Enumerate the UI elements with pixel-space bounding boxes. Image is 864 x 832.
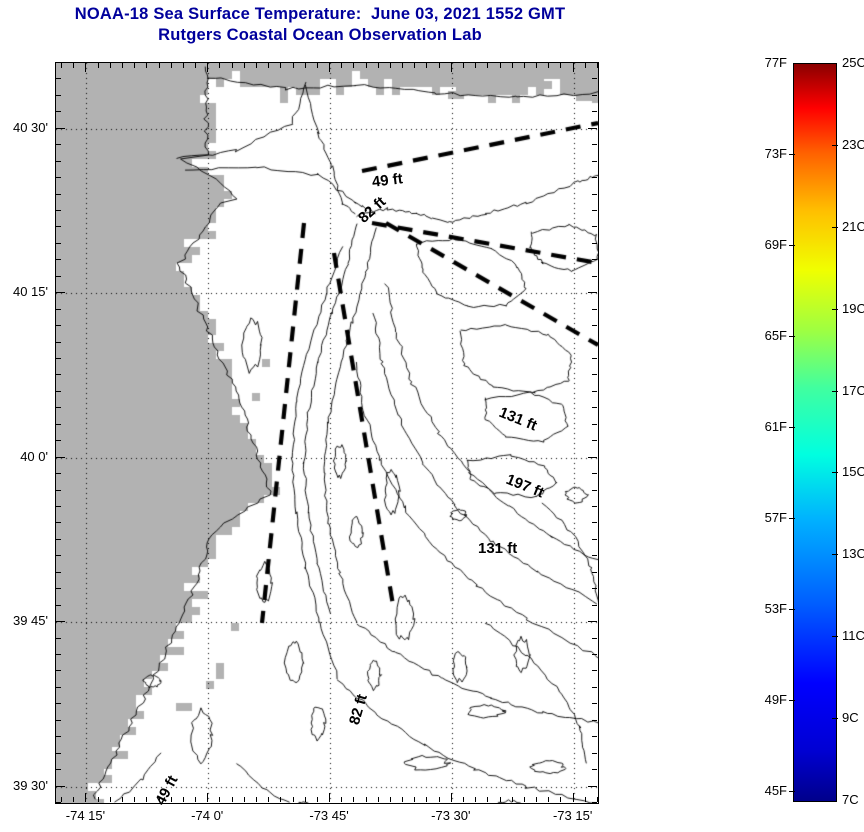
lon-tick-bottom [244, 797, 245, 802]
lon-tick-top [439, 63, 440, 68]
temperature-colorbar [793, 63, 837, 802]
lat-tick-left [56, 654, 61, 655]
lon-tick-bottom [85, 793, 86, 802]
lon-axis-label: -73 30' [406, 808, 496, 823]
lat-tick-left [56, 407, 61, 408]
lat-tick-right [592, 687, 597, 688]
depth-contour-label: 131 ft [478, 540, 517, 557]
lat-tick-right [592, 194, 597, 195]
lat-tick-right [592, 440, 597, 441]
lon-tick-bottom [597, 797, 598, 802]
lat-tick-right [592, 605, 597, 606]
lon-tick-top [122, 63, 123, 68]
colorbar-label-celsius: 11C [842, 628, 864, 643]
page-title: NOAA-18 Sea Surface Temperature: June 03… [0, 4, 640, 25]
lat-tick-left [56, 391, 61, 392]
colorbar-tick [789, 700, 795, 701]
colorbar-tick [789, 791, 795, 792]
lon-tick-top [61, 63, 62, 68]
lat-tick-right [592, 588, 597, 589]
colorbar-tick [789, 245, 795, 246]
lat-tick-right [592, 638, 597, 639]
lon-tick-top [390, 63, 391, 68]
lat-tick-left [56, 177, 61, 178]
lon-tick-bottom [475, 797, 476, 802]
lat-tick-right [592, 802, 597, 803]
lon-tick-bottom [232, 797, 233, 802]
lon-tick-bottom [73, 797, 74, 802]
lon-tick-bottom [110, 797, 111, 802]
lat-tick-left [56, 95, 61, 96]
lat-tick-left [56, 703, 61, 704]
lon-tick-top [451, 63, 452, 72]
lat-tick-right [592, 177, 597, 178]
colorbar-label-fahrenheit: 53F [735, 601, 787, 616]
lon-tick-top [560, 63, 561, 68]
lon-tick-bottom [536, 797, 537, 802]
lon-tick-top [402, 63, 403, 68]
lon-tick-top [195, 63, 196, 68]
lat-tick-right [592, 753, 597, 754]
lat-tick-left [56, 111, 61, 112]
lon-tick-top [219, 63, 220, 68]
colorbar-label-fahrenheit: 77F [735, 55, 787, 70]
lat-tick-right [592, 473, 597, 474]
lon-tick-bottom [293, 797, 294, 802]
lon-axis-label: -74 0' [162, 808, 252, 823]
lat-tick-left [56, 769, 61, 770]
colorbar-label-fahrenheit: 73F [735, 146, 787, 161]
lon-tick-top [293, 63, 294, 68]
colorbar-tick [789, 609, 795, 610]
colorbar-label-celsius: 17C [842, 383, 864, 398]
lat-axis-label: 40 30' [0, 120, 48, 135]
sst-map-plot-area [55, 62, 599, 804]
lon-tick-top [98, 63, 99, 68]
lon-tick-top [487, 63, 488, 68]
lon-tick-top [378, 63, 379, 68]
lat-tick-right [592, 374, 597, 375]
lon-tick-top [317, 63, 318, 68]
lat-tick-right [592, 736, 597, 737]
lat-tick-left [56, 358, 61, 359]
lon-tick-bottom [378, 797, 379, 802]
lon-tick-bottom [317, 797, 318, 802]
colorbar-tick [832, 636, 838, 637]
lon-tick-bottom [573, 793, 574, 802]
lat-tick-left [56, 62, 61, 63]
lon-tick-top [134, 63, 135, 68]
lon-tick-bottom [134, 797, 135, 802]
colorbar-tick [832, 391, 838, 392]
lon-tick-bottom [280, 797, 281, 802]
lat-tick-left [56, 490, 61, 491]
colorbar-tick [832, 145, 838, 146]
lat-tick-left [56, 440, 61, 441]
colorbar-tick [832, 227, 838, 228]
colorbar-tick [789, 427, 795, 428]
lon-tick-top [548, 63, 549, 68]
lat-tick-left [56, 374, 61, 375]
lat-tick-right [592, 555, 597, 556]
lon-tick-bottom [512, 797, 513, 802]
page-subtitle: Rutgers Coastal Ocean Observation Lab [0, 25, 640, 46]
colorbar-label-fahrenheit: 57F [735, 510, 787, 525]
lon-tick-bottom [61, 797, 62, 802]
lat-tick-right [592, 407, 597, 408]
lat-tick-left [56, 687, 61, 688]
lat-tick-left [56, 243, 61, 244]
colorbar-label-fahrenheit: 61F [735, 419, 787, 434]
lon-tick-bottom [390, 797, 391, 802]
lat-tick-right [592, 769, 597, 770]
lon-tick-top [73, 63, 74, 68]
lon-tick-top [536, 63, 537, 68]
lat-tick-left [56, 786, 65, 787]
lon-tick-bottom [146, 797, 147, 802]
lat-tick-right [592, 391, 597, 392]
lat-tick-right [592, 276, 597, 277]
lat-tick-right [592, 572, 597, 573]
lon-tick-bottom [122, 797, 123, 802]
colorbar-label-celsius: 19C [842, 301, 864, 316]
lon-tick-bottom [487, 797, 488, 802]
lon-tick-top [280, 63, 281, 68]
lon-tick-bottom [305, 797, 306, 802]
lat-tick-right [592, 703, 597, 704]
lat-tick-right [592, 111, 597, 112]
lon-tick-top [171, 63, 172, 68]
lat-tick-left [56, 720, 61, 721]
lat-tick-left [56, 78, 61, 79]
colorbar-gradient [793, 63, 837, 802]
lat-tick-left [56, 276, 61, 277]
colorbar-label-celsius: 7C [842, 792, 864, 807]
lon-tick-top [159, 63, 160, 68]
lat-tick-right [592, 720, 597, 721]
lat-tick-left [56, 342, 61, 343]
lat-tick-left [56, 292, 65, 293]
lat-tick-left [56, 522, 61, 523]
lon-tick-bottom [585, 797, 586, 802]
lon-tick-top [573, 63, 574, 72]
lon-tick-bottom [329, 793, 330, 802]
lat-tick-left [56, 802, 61, 803]
lat-tick-left [56, 588, 61, 589]
chart-title-block: NOAA-18 Sea Surface Temperature: June 03… [0, 4, 640, 46]
lon-tick-bottom [98, 797, 99, 802]
lat-tick-left [56, 325, 61, 326]
colorbar-tick [789, 154, 795, 155]
lat-tick-right [588, 786, 597, 787]
lat-tick-left [56, 605, 61, 606]
colorbar-label-fahrenheit: 69F [735, 237, 787, 252]
colorbar-label-celsius: 15C [842, 464, 864, 479]
colorbar-tick [832, 309, 838, 310]
colorbar-label-fahrenheit: 45F [735, 783, 787, 798]
lat-tick-left [56, 210, 61, 211]
colorbar-label-celsius: 25C [842, 55, 864, 70]
lat-tick-right [592, 490, 597, 491]
lat-tick-right [588, 128, 597, 129]
lon-tick-bottom [256, 797, 257, 802]
lat-tick-right [592, 62, 597, 63]
lat-tick-right [592, 95, 597, 96]
lat-tick-right [588, 621, 597, 622]
lon-tick-bottom [548, 797, 549, 802]
lon-axis-label: -73 45' [284, 808, 374, 823]
colorbar-tick [832, 472, 838, 473]
colorbar-label-celsius: 23C [842, 137, 864, 152]
lon-tick-top [183, 63, 184, 68]
lat-tick-left [56, 194, 61, 195]
colorbar-label-fahrenheit: 65F [735, 328, 787, 343]
lon-tick-top [426, 63, 427, 68]
lat-tick-right [592, 506, 597, 507]
lon-tick-top [353, 63, 354, 68]
lon-tick-top [524, 63, 525, 68]
lon-axis-label: -73 15' [528, 808, 618, 823]
lon-tick-top [329, 63, 330, 72]
lat-tick-right [592, 259, 597, 260]
lat-tick-right [592, 78, 597, 79]
lat-tick-left [56, 424, 61, 425]
colorbar-tick [789, 336, 795, 337]
colorbar-label-celsius: 13C [842, 546, 864, 561]
lon-tick-top [207, 63, 208, 72]
lat-tick-left [56, 128, 65, 129]
sst-map-canvas [56, 63, 598, 803]
lat-tick-right [592, 144, 597, 145]
lon-tick-top [475, 63, 476, 68]
lon-tick-top [232, 63, 233, 68]
lat-tick-right [592, 210, 597, 211]
lon-tick-top [414, 63, 415, 68]
lat-axis-label: 40 0' [0, 449, 48, 464]
lat-tick-left [56, 309, 61, 310]
lon-tick-bottom [560, 797, 561, 802]
lon-tick-bottom [414, 797, 415, 802]
lat-tick-right [592, 654, 597, 655]
lon-tick-bottom [500, 797, 501, 802]
lon-axis-label: -74 15' [40, 808, 130, 823]
lat-tick-right [588, 457, 597, 458]
lon-tick-bottom [268, 797, 269, 802]
lat-tick-left [56, 555, 61, 556]
lon-tick-bottom [524, 797, 525, 802]
lat-tick-right [588, 292, 597, 293]
colorbar-tick [832, 718, 838, 719]
lon-tick-top [146, 63, 147, 68]
lon-tick-top [305, 63, 306, 68]
colorbar-tick [789, 518, 795, 519]
lat-tick-left [56, 753, 61, 754]
lon-tick-top [85, 63, 86, 72]
lon-tick-top [341, 63, 342, 68]
lat-axis-label: 39 30' [0, 778, 48, 793]
lat-tick-left [56, 506, 61, 507]
lon-tick-bottom [426, 797, 427, 802]
lat-tick-left [56, 539, 61, 540]
lat-tick-right [592, 309, 597, 310]
lat-tick-left [56, 621, 65, 622]
lat-tick-left [56, 144, 61, 145]
lat-axis-label: 39 45' [0, 613, 48, 628]
lat-tick-right [592, 243, 597, 244]
lon-tick-bottom [451, 793, 452, 802]
lat-tick-right [592, 424, 597, 425]
lon-tick-top [366, 63, 367, 68]
lat-tick-right [592, 539, 597, 540]
lon-tick-bottom [207, 793, 208, 802]
lon-tick-bottom [463, 797, 464, 802]
lat-tick-left [56, 259, 61, 260]
lon-tick-bottom [341, 797, 342, 802]
lon-tick-top [500, 63, 501, 68]
lon-tick-top [463, 63, 464, 68]
lon-tick-top [244, 63, 245, 68]
lat-tick-left [56, 736, 61, 737]
lon-tick-bottom [439, 797, 440, 802]
lat-tick-left [56, 457, 65, 458]
lon-tick-top [110, 63, 111, 68]
lat-tick-right [592, 358, 597, 359]
lon-tick-bottom [219, 797, 220, 802]
lon-tick-bottom [183, 797, 184, 802]
colorbar-tick [832, 554, 838, 555]
lat-tick-right [592, 161, 597, 162]
lon-tick-bottom [366, 797, 367, 802]
lat-tick-left [56, 638, 61, 639]
lon-tick-bottom [195, 797, 196, 802]
lat-tick-right [592, 670, 597, 671]
colorbar-label-celsius: 9C [842, 710, 864, 725]
colorbar-label-celsius: 21C [842, 219, 864, 234]
lon-tick-bottom [353, 797, 354, 802]
lon-tick-top [597, 63, 598, 68]
colorbar-label-fahrenheit: 49F [735, 692, 787, 707]
lon-tick-top [256, 63, 257, 68]
lon-tick-top [585, 63, 586, 68]
lat-tick-left [56, 670, 61, 671]
lat-tick-right [592, 226, 597, 227]
lon-tick-bottom [402, 797, 403, 802]
lat-tick-left [56, 572, 61, 573]
lat-tick-left [56, 226, 61, 227]
lat-tick-right [592, 522, 597, 523]
lon-tick-top [512, 63, 513, 68]
lat-axis-label: 40 15' [0, 284, 48, 299]
lon-tick-top [268, 63, 269, 68]
lat-tick-right [592, 325, 597, 326]
lat-tick-right [592, 342, 597, 343]
lat-tick-left [56, 473, 61, 474]
lat-tick-left [56, 161, 61, 162]
